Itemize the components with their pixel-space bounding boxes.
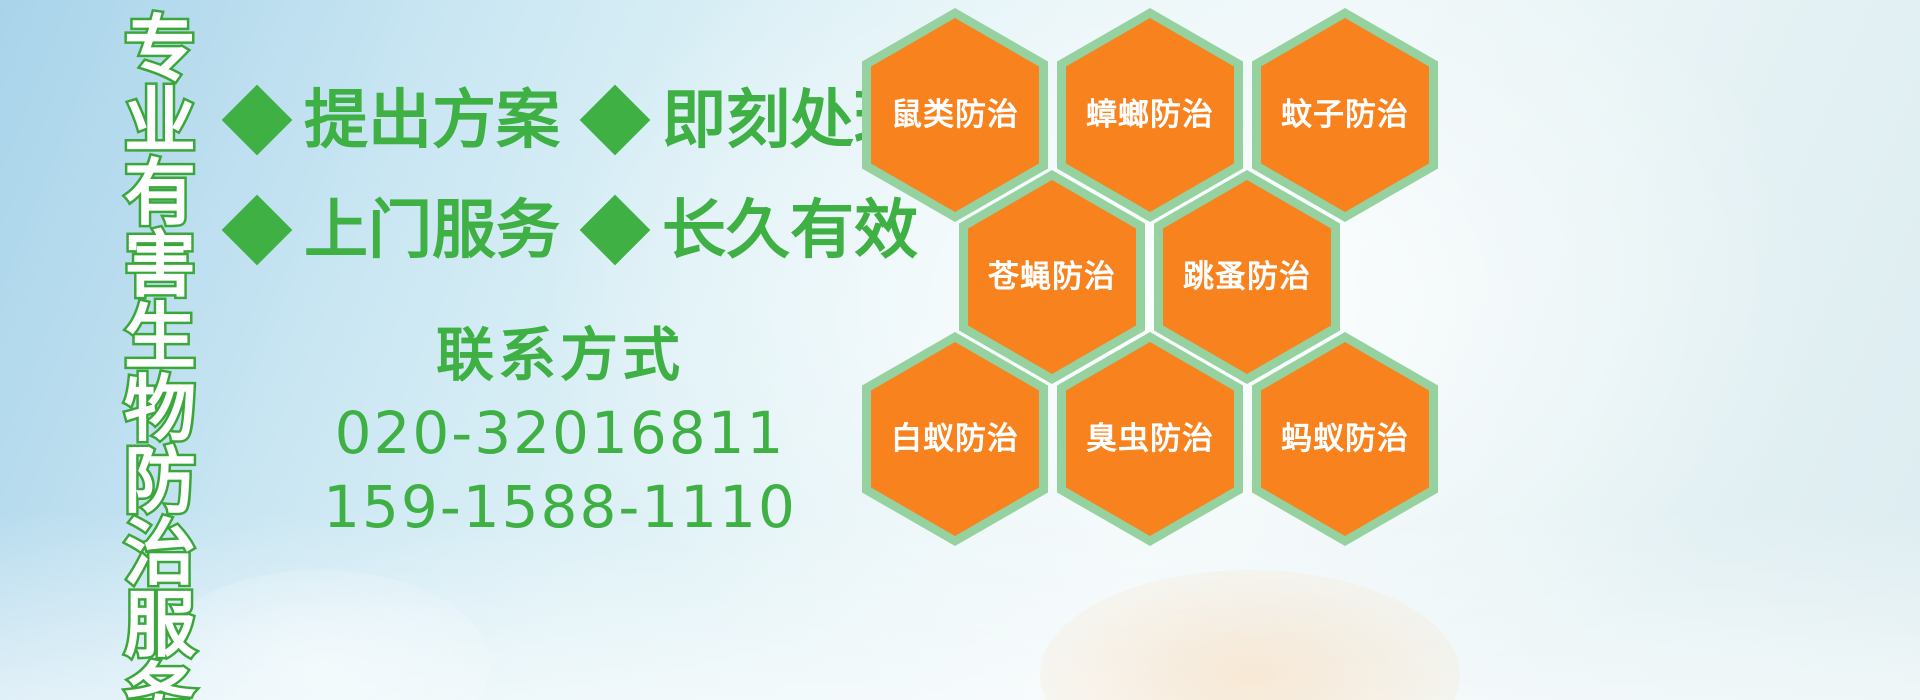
service-label: 蟑螂防治 xyxy=(1086,98,1214,132)
diamond-bullet-icon xyxy=(222,85,293,156)
phone-landline[interactable]: 020-32016811 xyxy=(250,396,870,470)
service-label: 白蚁防治 xyxy=(891,422,1019,456)
feature-line-2: 上门服务 长久有效 xyxy=(232,198,932,262)
service-label: 蚊子防治 xyxy=(1281,98,1409,132)
service-hex-termite[interactable]: 白蚁防治 xyxy=(862,332,1048,546)
feature-label: 上门服务 xyxy=(304,198,560,262)
service-hex-bedbug[interactable]: 臭虫防治 xyxy=(1057,332,1243,546)
service-label: 蚂蚁防治 xyxy=(1281,422,1409,456)
vertical-headline-char: 有 xyxy=(124,158,196,230)
decorative-warm-blob-right xyxy=(1040,570,1460,700)
service-label: 鼠类防治 xyxy=(891,98,1019,132)
feature-line-1: 提出方案 即刻处理 xyxy=(232,88,932,152)
feature-label: 提出方案 xyxy=(304,88,560,152)
vertical-headline-char: 害 xyxy=(124,230,196,302)
diamond-bullet-icon xyxy=(580,195,651,266)
vertical-headline-char: 生 xyxy=(124,302,196,374)
service-label: 臭虫防治 xyxy=(1086,422,1214,456)
diamond-bullet-icon xyxy=(222,195,293,266)
vertical-headline-char: 治 xyxy=(124,518,196,590)
vertical-headline-char: 业 xyxy=(124,86,196,158)
vertical-headline-char: 服 xyxy=(124,590,196,662)
contact-title: 联系方式 xyxy=(250,320,870,392)
vertical-headline-char: 专 xyxy=(124,14,196,86)
service-hex-ant[interactable]: 蚂蚁防治 xyxy=(1252,332,1438,546)
service-label: 苍蝇防治 xyxy=(988,260,1116,294)
vertical-headline-char: 务 xyxy=(124,662,196,700)
pest-control-service-banner: 专 业 有 害 生 物 防 治 服 务 提出方案 即刻处理 上门服务 长久有效 … xyxy=(0,0,1920,700)
service-label: 跳蚤防治 xyxy=(1183,260,1311,294)
contact-block: 联系方式 020-32016811 159-1588-1110 xyxy=(250,320,870,544)
vertical-headline-char: 防 xyxy=(124,446,196,518)
vertical-headline: 专 业 有 害 生 物 防 治 服 务 xyxy=(108,14,212,674)
service-honeycomb: 鼠类防治 蟑螂防治 蚊子防治 苍蝇防治 跳蚤防治 xyxy=(862,8,1462,548)
phone-mobile[interactable]: 159-1588-1110 xyxy=(250,470,870,544)
diamond-bullet-icon xyxy=(580,85,651,156)
vertical-headline-char: 物 xyxy=(124,374,196,446)
